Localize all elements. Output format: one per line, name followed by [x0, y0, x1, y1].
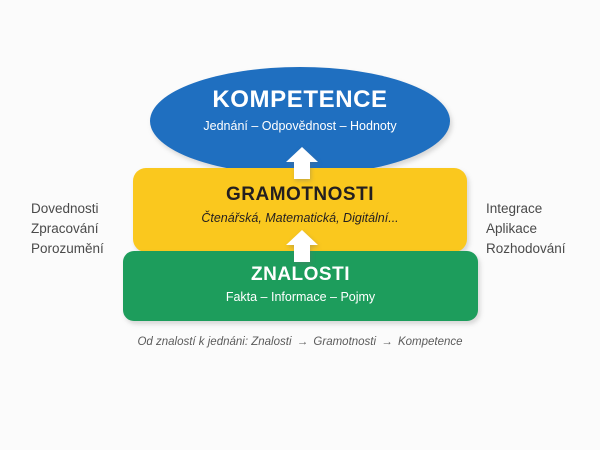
left-label-dovednosti: Dovednosti — [31, 199, 104, 219]
right-label-aplikace: Aplikace — [486, 219, 566, 239]
tier-gramotnosti-text-group: GRAMOTNOSTI Čtenářská, Matematická, Digi… — [133, 185, 467, 226]
tier-kompetence-subtitle: Jednání – Odpovědnost – Hodnoty — [150, 120, 450, 134]
left-label-zpracovani: Zpracování — [31, 219, 104, 239]
diagram-caption: Od znalostí k jednáni: Znalosti → Gramot… — [0, 336, 600, 348]
diagram-canvas: KOMPETENCE Jednání – Odpovědnost – Hodno… — [0, 0, 600, 450]
left-label-porozumeni: Porozumění — [31, 239, 104, 259]
right-label-integrace: Integrace — [486, 199, 566, 219]
caption-lead: Od znalostí k jednáni: — [137, 336, 248, 348]
right-annotation-group: Integrace Aplikace Rozhodování — [486, 199, 566, 259]
caption-flow-arrow-2-icon: → — [379, 336, 395, 348]
arrow-up-icon-gramotnosti-to-kompetence — [285, 146, 319, 180]
left-annotation-group: Dovednosti Zpracování Porozumění — [31, 199, 104, 259]
tier-gramotnosti-subtitle: Čtenářská, Matematická, Digitální... — [133, 212, 467, 226]
right-label-rozhodovani: Rozhodování — [486, 239, 566, 259]
tier-znalosti-text-group: ZNALOSTI Fakta – Informace – Pojmy — [123, 265, 478, 305]
tier-znalosti-title: ZNALOSTI — [123, 265, 478, 285]
caption-step-2: Gramotnosti — [313, 336, 376, 348]
tier-kompetence-text-group: KOMPETENCE Jednání – Odpovědnost – Hodno… — [150, 87, 450, 134]
caption-flow-arrow-1-icon: → — [295, 336, 311, 348]
tier-znalosti-subtitle: Fakta – Informace – Pojmy — [123, 291, 478, 305]
caption-step-1: Znalosti — [251, 336, 291, 348]
tier-kompetence-title: KOMPETENCE — [150, 87, 450, 112]
caption-step-3: Kompetence — [398, 336, 463, 348]
arrow-up-icon-znalosti-to-gramotnosti — [285, 229, 319, 263]
tier-gramotnosti-title: GRAMOTNOSTI — [133, 185, 467, 205]
